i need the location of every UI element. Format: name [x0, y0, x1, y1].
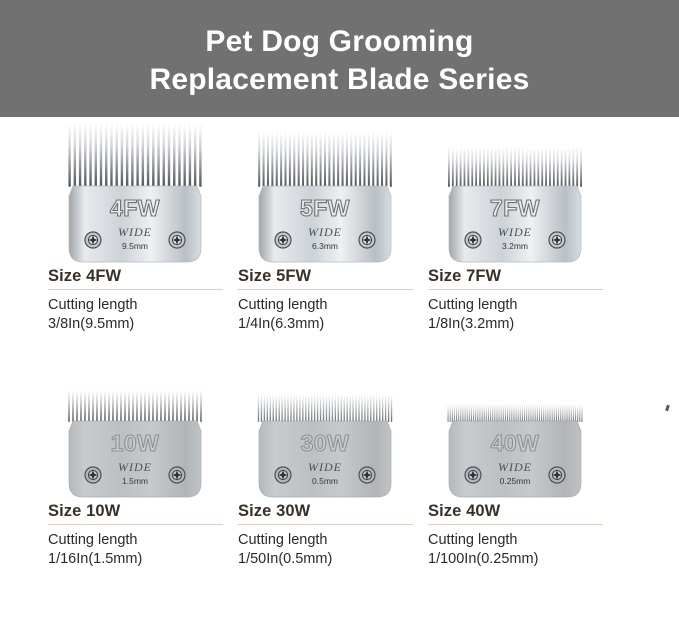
product-caption: Size 10W Cutting length 1/16In(1.5mm): [40, 502, 230, 569]
product-card-40w[interactable]: 40W WIDE 0.25mm Size 40W Cutting length …: [420, 352, 610, 569]
blade-image-30w: 30W WIDE 0.5mm: [230, 352, 420, 502]
cutting-length-label: Cutting length: [428, 296, 600, 315]
blade-image-10w: 10W WIDE 1.5mm: [40, 352, 230, 502]
svg-text:WIDE: WIDE: [118, 460, 152, 474]
blade-image-40w: 40W WIDE 0.25mm: [420, 352, 610, 502]
svg-text:9.5mm: 9.5mm: [122, 241, 148, 251]
svg-text:WIDE: WIDE: [308, 460, 342, 474]
title-underline: [428, 524, 603, 525]
svg-text:10W: 10W: [111, 430, 160, 456]
svg-text:40W: 40W: [491, 430, 540, 456]
blade-graphic: 10W WIDE 1.5mm: [55, 388, 215, 502]
cutting-length-label: Cutting length: [238, 531, 410, 550]
svg-text:1.5mm: 1.5mm: [122, 476, 148, 486]
size-title: Size 4FW: [48, 267, 220, 289]
cutting-length-label: Cutting length: [48, 531, 220, 550]
product-card-10w[interactable]: 10W WIDE 1.5mm Size 10W Cutting length 1…: [40, 352, 230, 569]
svg-text:4FW: 4FW: [110, 195, 160, 221]
size-title: Size 10W: [48, 502, 220, 524]
product-row-2: 10W WIDE 1.5mm Size 10W Cutting length 1…: [0, 352, 679, 569]
header-banner: Pet Dog Grooming Replacement Blade Serie…: [0, 0, 679, 117]
svg-text:WIDE: WIDE: [118, 225, 152, 239]
svg-text:7FW: 7FW: [490, 195, 540, 221]
blade-graphic: 30W WIDE 0.5mm: [245, 392, 405, 502]
cutting-length-value: 1/4In(6.3mm): [238, 315, 410, 334]
blade-graphic: 4FW WIDE 9.5mm: [55, 121, 215, 267]
cutting-length-label: Cutting length: [428, 531, 600, 550]
svg-text:6.3mm: 6.3mm: [312, 241, 338, 251]
cutting-length-value: 3/8In(9.5mm): [48, 315, 220, 334]
size-title: Size 7FW: [428, 267, 600, 289]
svg-text:30W: 30W: [301, 430, 350, 456]
cutting-length-label: Cutting length: [48, 296, 220, 315]
svg-text:WIDE: WIDE: [498, 225, 532, 239]
title-underline: [48, 289, 223, 290]
page-title-line-1: Pet Dog Grooming: [205, 23, 473, 61]
title-underline: [238, 289, 413, 290]
product-grid: 4FW WIDE 9.5mm Size 4FW Cutting length 3…: [0, 117, 679, 569]
cutting-length-value: 1/8In(3.2mm): [428, 315, 600, 334]
product-caption: Size 4FW Cutting length 3/8In(9.5mm): [40, 267, 230, 334]
svg-text:3.2mm: 3.2mm: [502, 241, 528, 251]
product-row-1: 4FW WIDE 9.5mm Size 4FW Cutting length 3…: [0, 117, 679, 334]
product-card-5fw[interactable]: 5FW WIDE 6.3mm Size 5FW Cutting length 1…: [230, 117, 420, 334]
product-card-4fw[interactable]: 4FW WIDE 9.5mm Size 4FW Cutting length 3…: [40, 117, 230, 334]
blade-image-5fw: 5FW WIDE 6.3mm: [230, 117, 420, 267]
svg-text:WIDE: WIDE: [308, 225, 342, 239]
product-caption: Size 30W Cutting length 1/50In(0.5mm): [230, 502, 420, 569]
svg-text:5FW: 5FW: [300, 195, 350, 221]
title-underline: [48, 524, 223, 525]
blade-graphic: 40W WIDE 0.25mm: [435, 402, 595, 502]
product-caption: Size 5FW Cutting length 1/4In(6.3mm): [230, 267, 420, 334]
svg-text:0.5mm: 0.5mm: [312, 476, 338, 486]
svg-text:0.25mm: 0.25mm: [500, 476, 531, 486]
svg-text:WIDE: WIDE: [498, 460, 532, 474]
size-title: Size 40W: [428, 502, 600, 524]
cutting-length-label: Cutting length: [238, 296, 410, 315]
product-card-7fw[interactable]: 7FW WIDE 3.2mm Size 7FW Cutting length 1…: [420, 117, 610, 334]
blade-image-7fw: 7FW WIDE 3.2mm: [420, 117, 610, 267]
blade-graphic: 7FW WIDE 3.2mm: [435, 145, 595, 267]
title-underline: [238, 524, 413, 525]
size-title: Size 30W: [238, 502, 410, 524]
blade-graphic: 5FW WIDE 6.3mm: [245, 129, 405, 267]
cutting-length-value: 1/50In(0.5mm): [238, 550, 410, 569]
size-title: Size 5FW: [238, 267, 410, 289]
page-title-line-2: Replacement Blade Series: [150, 61, 530, 99]
cutting-length-value: 1/16In(1.5mm): [48, 550, 220, 569]
product-caption: Size 7FW Cutting length 1/8In(3.2mm): [420, 267, 610, 334]
row-spacer: [0, 334, 679, 352]
title-underline: [428, 289, 603, 290]
blade-image-4fw: 4FW WIDE 9.5mm: [40, 117, 230, 267]
cutting-length-value: 1/100In(0.25mm): [428, 550, 600, 569]
product-caption: Size 40W Cutting length 1/100In(0.25mm): [420, 502, 610, 569]
product-card-30w[interactable]: 30W WIDE 0.5mm Size 30W Cutting length 1…: [230, 352, 420, 569]
